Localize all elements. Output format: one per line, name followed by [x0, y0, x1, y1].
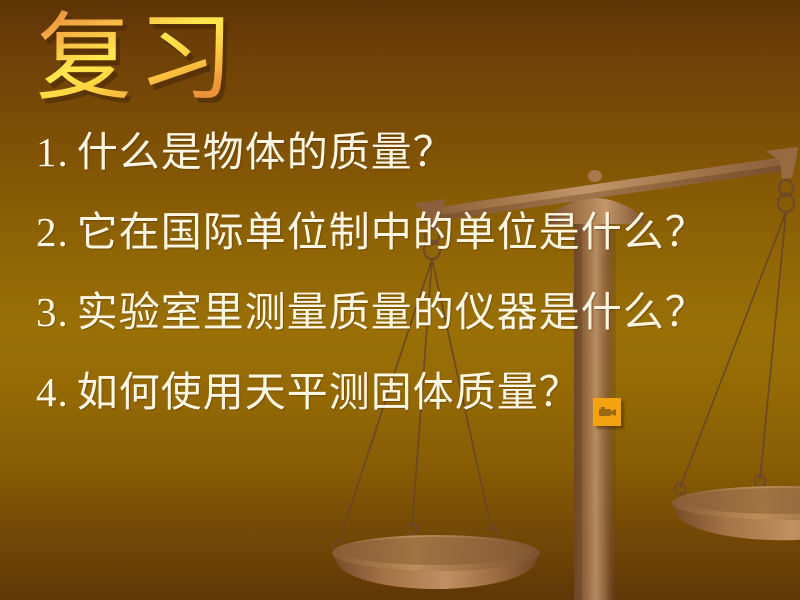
question-number: 3. [36, 292, 69, 333]
page-title: 复习 [36, 6, 240, 112]
list-item: 2. 它在国际单位制中的单位是什么？ [36, 212, 776, 292]
video-camera-icon[interactable] [593, 398, 621, 426]
question-number: 2. [36, 212, 69, 253]
question-text: 什么是物体的质量？ [77, 132, 455, 173]
question-number: 1. [36, 132, 69, 173]
question-number: 4. [36, 372, 69, 413]
list-item: 4. 如何使用天平测固体质量？ [36, 372, 776, 452]
list-item: 1. 什么是物体的质量？ [36, 132, 776, 212]
question-text: 如何使用天平测固体质量？ [77, 372, 581, 413]
list-item: 3. 实验室里测量质量的仪器是什么？ [36, 292, 776, 372]
slide-canvas: 复习 1. 什么是物体的质量？ 2. 它在国际单位制中的单位是什么？ 3. 实验… [0, 0, 800, 600]
question-text: 它在国际单位制中的单位是什么？ [77, 212, 707, 253]
question-list: 1. 什么是物体的质量？ 2. 它在国际单位制中的单位是什么？ 3. 实验室里测… [36, 132, 776, 452]
question-text: 实验室里测量质量的仪器是什么？ [77, 292, 707, 333]
